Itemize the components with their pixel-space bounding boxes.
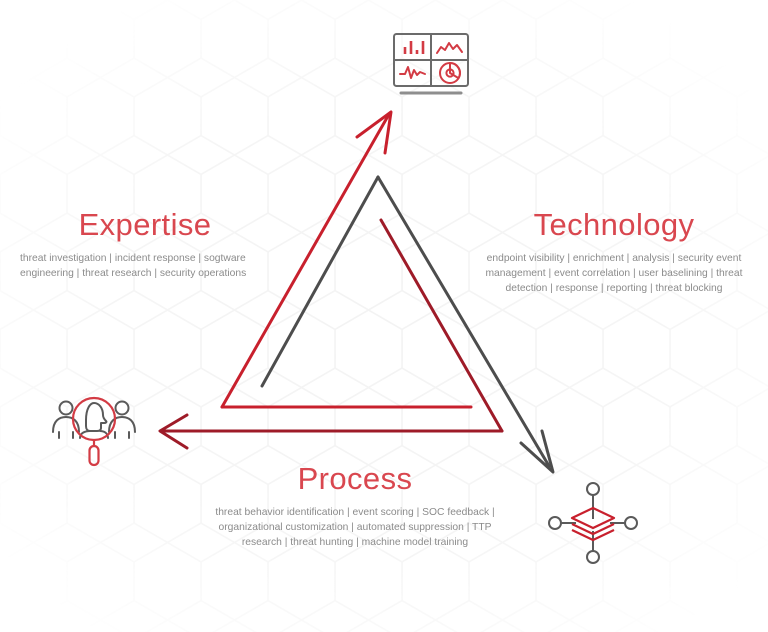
layers-network-icon xyxy=(543,481,643,565)
red-left-arrow xyxy=(160,415,502,448)
pillar-technology: Technology endpoint visibility | enrichm… xyxy=(480,208,748,297)
bar-chart-glyph xyxy=(405,41,423,54)
pillar-process: Process threat behavior identification |… xyxy=(202,462,508,551)
person-center-glyph xyxy=(80,403,108,438)
pillar-technology-title: Technology xyxy=(480,208,748,242)
pillar-process-description: threat behavior identification | event s… xyxy=(202,506,508,551)
pulse-waveform-glyph xyxy=(400,67,425,78)
person-left-glyph xyxy=(53,402,79,439)
people-search-icon xyxy=(44,390,144,470)
pillar-expertise-title: Expertise xyxy=(14,208,276,242)
line-chart-glyph xyxy=(437,43,462,53)
gray-left-leg xyxy=(262,177,378,386)
donut-chart-glyph xyxy=(440,63,460,83)
pillar-technology-description: endpoint visibility | enrichment | analy… xyxy=(480,252,748,297)
pillar-expertise: Expertise threat investigation | inciden… xyxy=(14,208,276,282)
diagram-canvas: Expertise threat investigation | inciden… xyxy=(0,0,768,632)
analytics-dashboard-icon xyxy=(383,28,479,100)
node-connectors xyxy=(561,495,625,551)
pillar-process-title: Process xyxy=(202,462,508,496)
pillar-expertise-description: threat investigation | incident response… xyxy=(14,252,276,282)
person-right-glyph xyxy=(109,402,135,439)
